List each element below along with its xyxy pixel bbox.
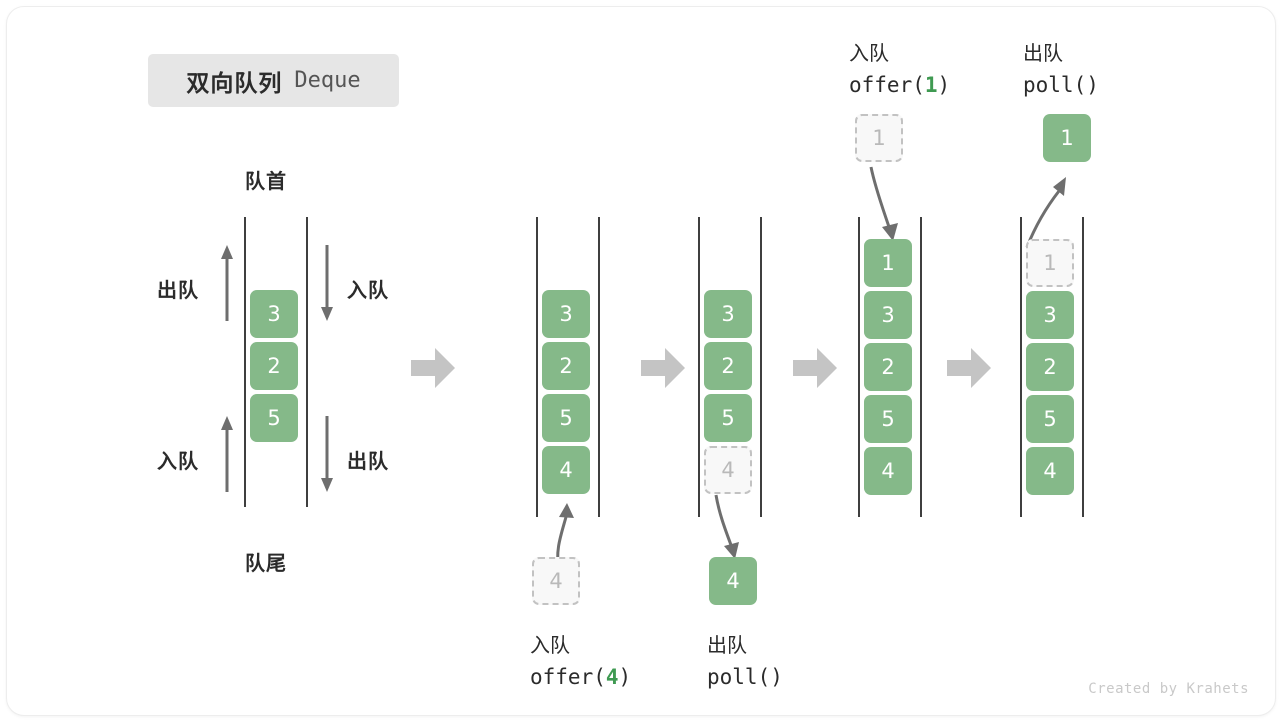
deque-cell: 3 (704, 290, 752, 338)
deque-cell: 3 (864, 291, 912, 339)
code-suffix: ) (1086, 73, 1099, 97)
stage-caption-code: offer(4) (530, 665, 631, 689)
stage-caption-code: poll() (1023, 73, 1099, 97)
rail-left (858, 217, 860, 517)
deque-cell-removed: 1 (1026, 239, 1074, 287)
deque-cells-poll-tail: 3 2 5 4 (704, 290, 752, 494)
code-arg: 4 (606, 665, 619, 689)
tail-label: 队尾 (245, 547, 287, 576)
deque-cell: 5 (864, 395, 912, 443)
deque-cell: 3 (542, 290, 590, 338)
deque-cell: 5 (542, 394, 590, 442)
deque-cell: 3 (250, 290, 298, 338)
code-suffix: ) (938, 73, 951, 97)
rail-left (1020, 217, 1022, 517)
deque-cell-removed: 4 (704, 446, 752, 494)
rail-right (306, 217, 308, 507)
deque-cells-offer-4: 3 2 5 4 (542, 290, 590, 494)
floating-ghost-cell: 1 (855, 114, 903, 162)
deque-cell-inserted: 4 (542, 446, 590, 494)
arrow-down-bottom-right-icon (317, 414, 337, 494)
rail-right (598, 217, 600, 517)
legend-bottom-left-label: 入队 (157, 445, 199, 474)
rail-right (1082, 217, 1084, 517)
deque-cells-initial: 3 2 5 (250, 290, 298, 442)
rail-left (698, 217, 700, 517)
stage-separator-arrow-icon (411, 348, 455, 388)
stage-caption-cn: 出队 (1023, 37, 1063, 66)
title-badge: 双向队列 Deque (148, 54, 399, 107)
deque-cell: 2 (1026, 343, 1074, 391)
diagram-card: 双向队列 Deque 队首 队尾 3 2 5 出队 入队 入队 (6, 6, 1276, 716)
deque-cell: 4 (1026, 447, 1074, 495)
stage-caption-code: offer(1) (849, 73, 950, 97)
rail-left (244, 217, 246, 507)
deque-cell-inserted: 1 (864, 239, 912, 287)
deque-cell: 2 (542, 342, 590, 390)
rail-right (760, 217, 762, 517)
stage-separator-arrow-icon (793, 348, 837, 388)
stage-separator-arrow-icon (947, 348, 991, 388)
title-chinese: 双向队列 (186, 64, 282, 98)
deque-cells-poll-head: 1 3 2 5 4 (1026, 239, 1074, 495)
arrow-down-top-right-icon (317, 243, 337, 323)
deque-cell: 5 (704, 394, 752, 442)
code-arg: 1 (925, 73, 938, 97)
stage-caption-cn: 入队 (530, 629, 570, 658)
deque-cell: 4 (864, 447, 912, 495)
code-prefix: poll( (1023, 73, 1086, 97)
head-label: 队首 (245, 165, 287, 194)
floating-removed-cell: 1 (1043, 114, 1091, 162)
code-prefix: offer( (530, 665, 606, 689)
code-suffix: ) (619, 665, 632, 689)
arrow-up-top-left-icon (217, 243, 237, 323)
deque-cell: 2 (864, 343, 912, 391)
legend-top-left-label: 出队 (157, 274, 199, 303)
rail-left (536, 217, 538, 517)
code-suffix: ) (770, 665, 783, 689)
deque-cell: 5 (1026, 395, 1074, 443)
arrow-up-bottom-left-icon (217, 414, 237, 494)
deque-cell: 2 (704, 342, 752, 390)
rail-right (920, 217, 922, 517)
deque-cell: 3 (1026, 291, 1074, 339)
deque-cells-offer-1: 1 3 2 5 4 (864, 239, 912, 495)
code-prefix: poll( (707, 665, 770, 689)
deque-cell: 2 (250, 342, 298, 390)
title-english: Deque (294, 68, 360, 93)
stage-separator-arrow-icon (641, 348, 685, 388)
stage-caption-code: poll() (707, 665, 783, 689)
floating-ghost-cell: 4 (532, 557, 580, 605)
stage-caption-cn: 入队 (849, 37, 889, 66)
code-prefix: offer( (849, 73, 925, 97)
legend-top-right-label: 入队 (347, 274, 389, 303)
legend-bottom-right-label: 出队 (347, 445, 389, 474)
credit-text: Created by Krahets (1088, 681, 1249, 697)
floating-removed-cell: 4 (709, 557, 757, 605)
deque-cell: 5 (250, 394, 298, 442)
stage-caption-cn: 出队 (707, 629, 747, 658)
